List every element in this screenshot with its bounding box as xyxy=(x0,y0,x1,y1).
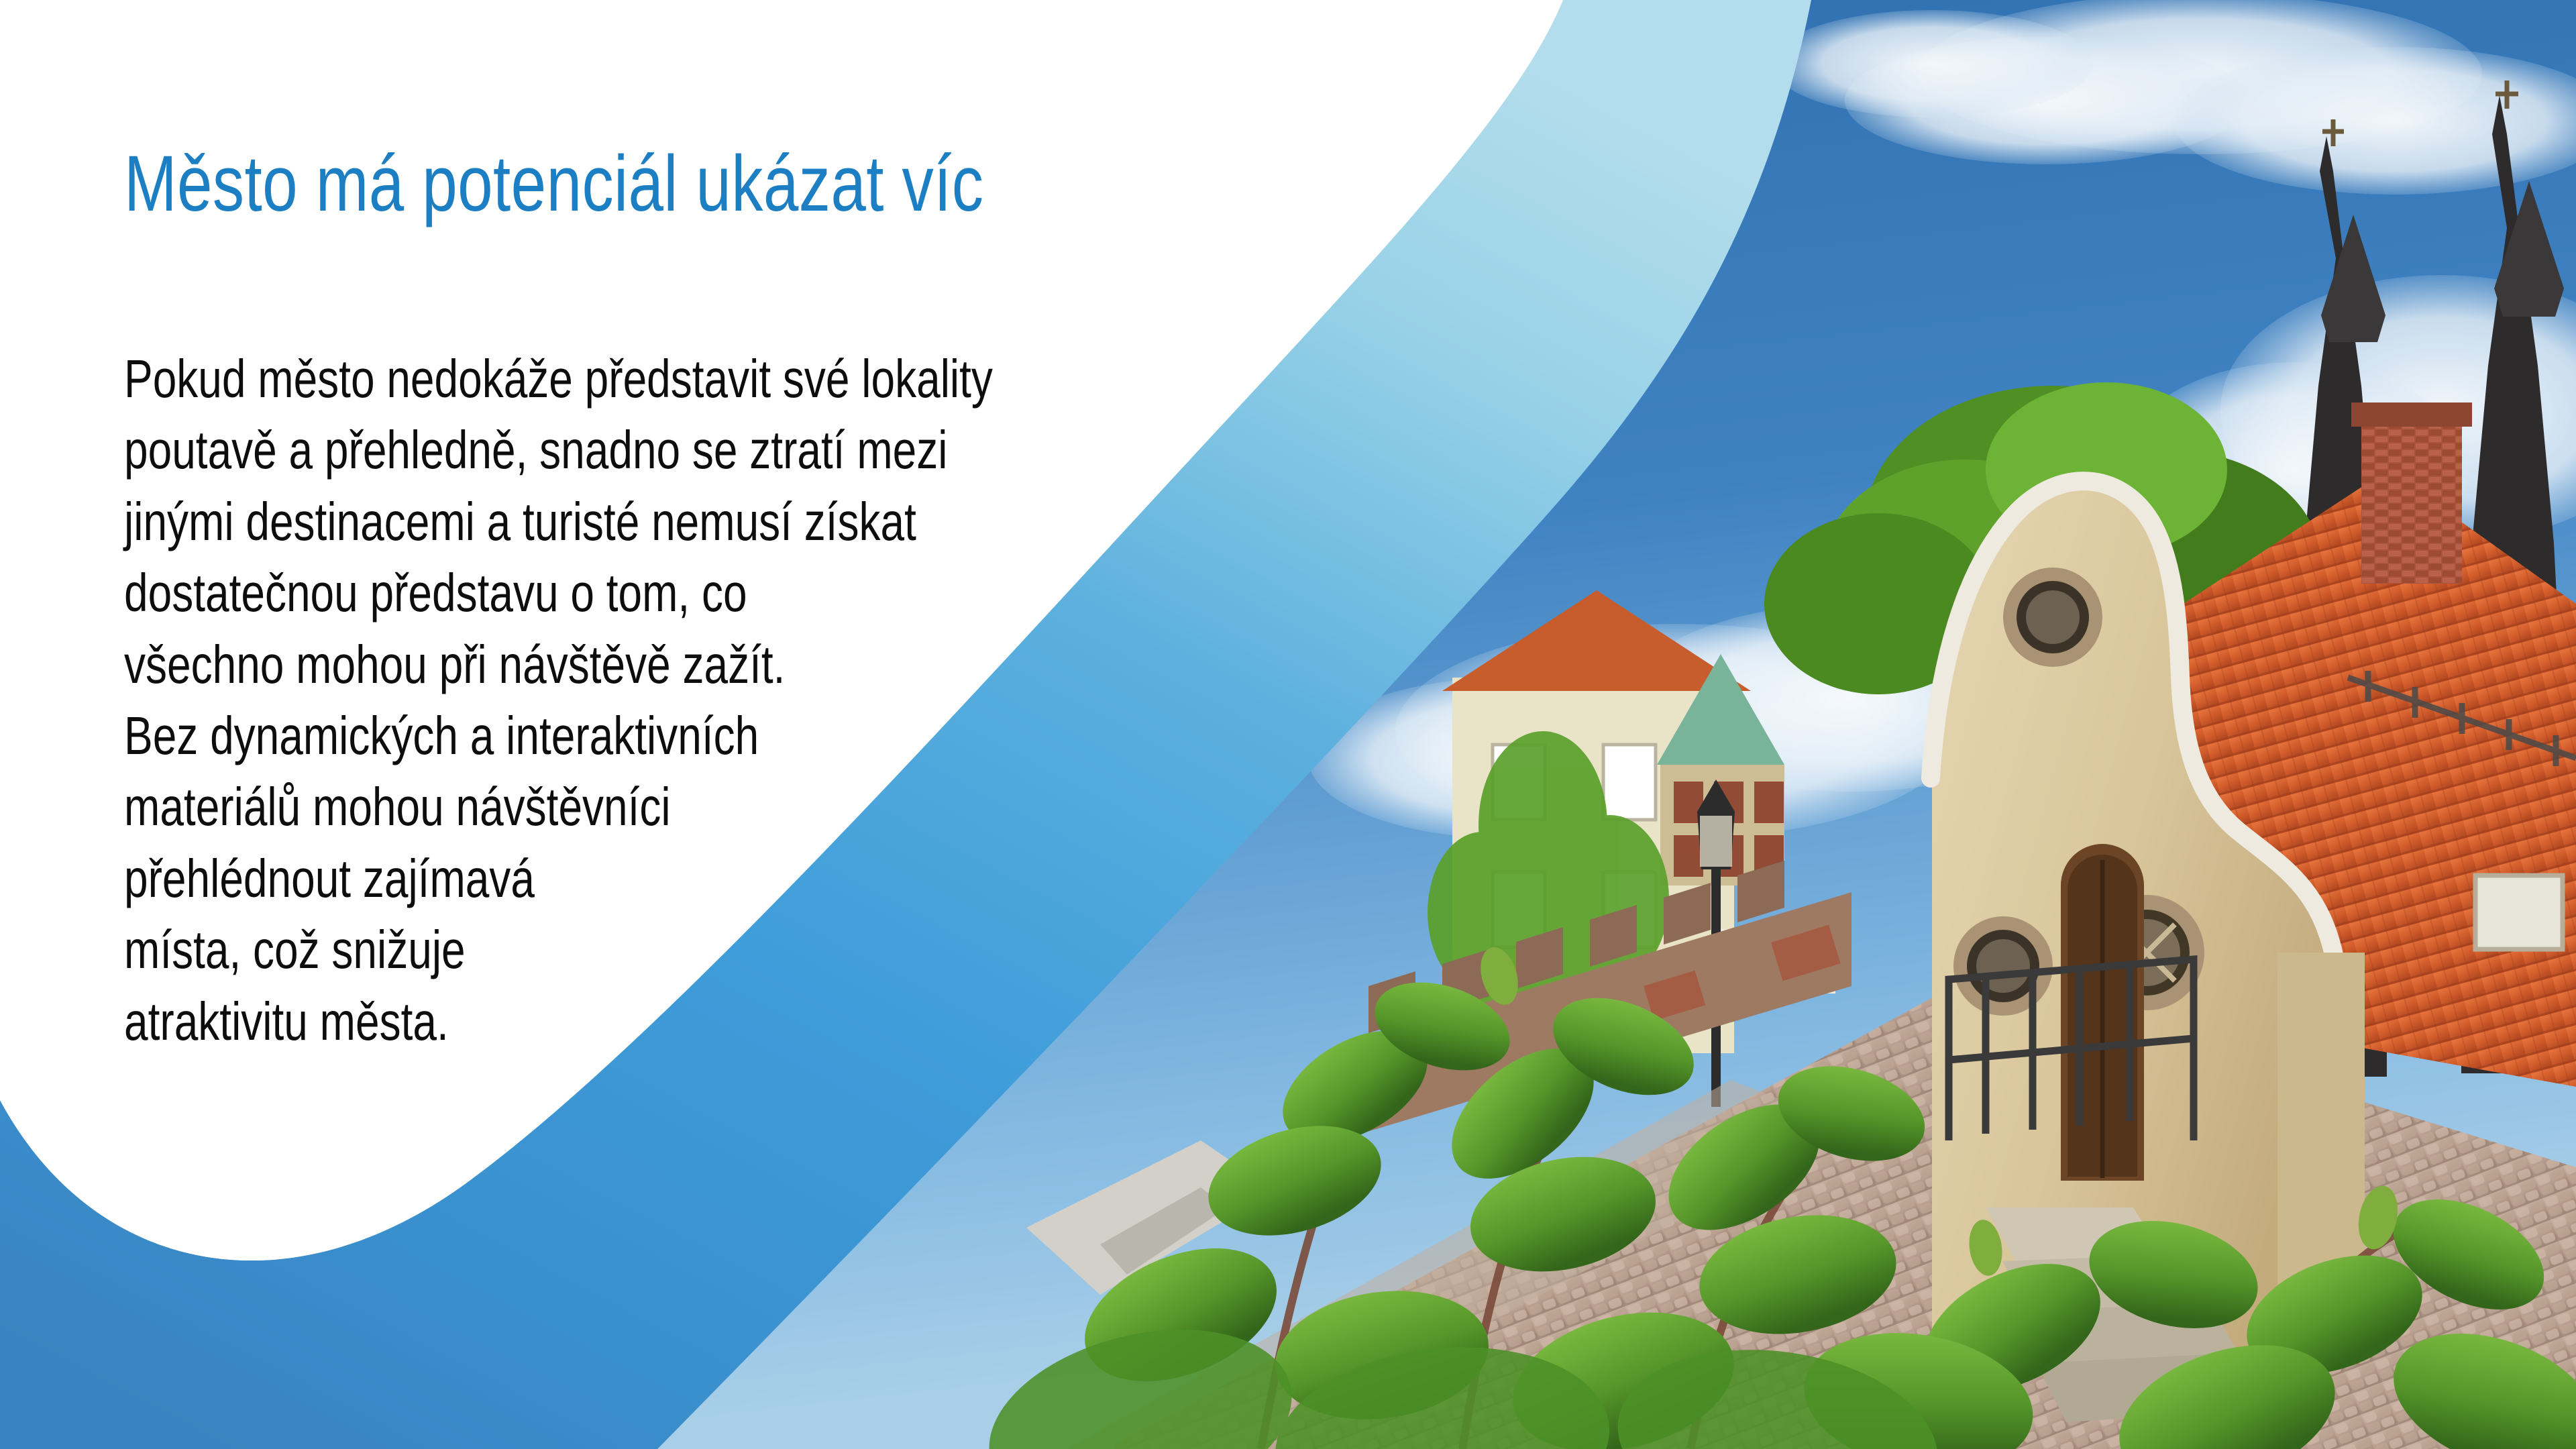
curved-blue-band xyxy=(0,0,2576,1449)
presentation-slide: Böttger xyxy=(0,0,2576,1449)
